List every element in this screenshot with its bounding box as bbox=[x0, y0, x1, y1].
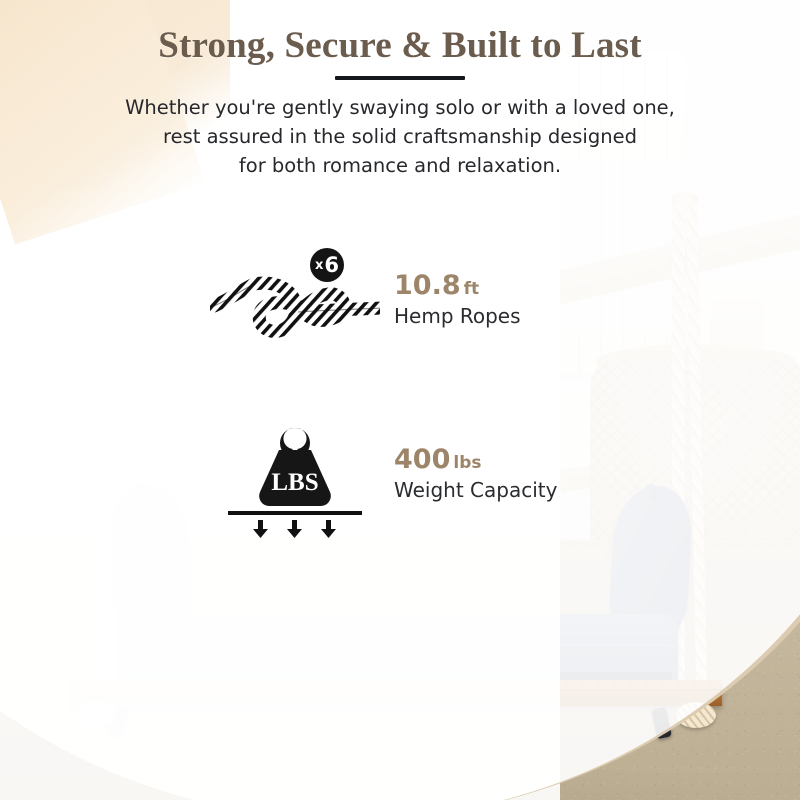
spec-weight-capacity: LBS 400lbs Weight Capacity bbox=[210, 420, 557, 528]
rope-count-badge: x6 bbox=[310, 248, 344, 282]
weight-number: 400 bbox=[394, 444, 450, 475]
weight-lbs-icon: LBS bbox=[210, 420, 380, 528]
title-underline-rule bbox=[335, 76, 465, 80]
subtitle-line-3: for both romance and relaxation. bbox=[90, 152, 710, 181]
spec-label-weight-capacity: Weight Capacity bbox=[394, 478, 557, 502]
svg-text:LBS: LBS bbox=[271, 469, 318, 496]
rope-length-unit: ft bbox=[464, 279, 480, 299]
header-block: Strong, Secure & Built to Last Whether y… bbox=[0, 0, 800, 181]
page-title: Strong, Secure & Built to Last bbox=[0, 0, 800, 67]
badge-count: 6 bbox=[324, 255, 339, 276]
subtitle-block: Whether you're gently swaying solo or wi… bbox=[90, 94, 710, 181]
spec-text-weight-capacity: 400lbs Weight Capacity bbox=[394, 446, 557, 502]
subtitle-line-1: Whether you're gently swaying solo or wi… bbox=[90, 94, 710, 123]
rope-knot-icon: x6 bbox=[210, 246, 380, 354]
spec-text-hemp-ropes: 10.8ft Hemp Ropes bbox=[394, 272, 521, 328]
badge-prefix: x bbox=[315, 259, 323, 272]
rope-length-number: 10.8 bbox=[394, 270, 461, 301]
infographic-canvas: Strong, Secure & Built to Last Whether y… bbox=[0, 0, 800, 800]
subtitle-line-2: rest assured in the solid craftsmanship … bbox=[90, 123, 710, 152]
weight-unit: lbs bbox=[453, 453, 481, 473]
spec-hemp-ropes: x6 10.8ft Hemp Ropes bbox=[210, 246, 521, 354]
spec-value-weight-capacity: 400lbs bbox=[394, 446, 557, 474]
spec-value-hemp-ropes: 10.8ft bbox=[394, 272, 521, 300]
spec-label-hemp-ropes: Hemp Ropes bbox=[394, 304, 521, 328]
